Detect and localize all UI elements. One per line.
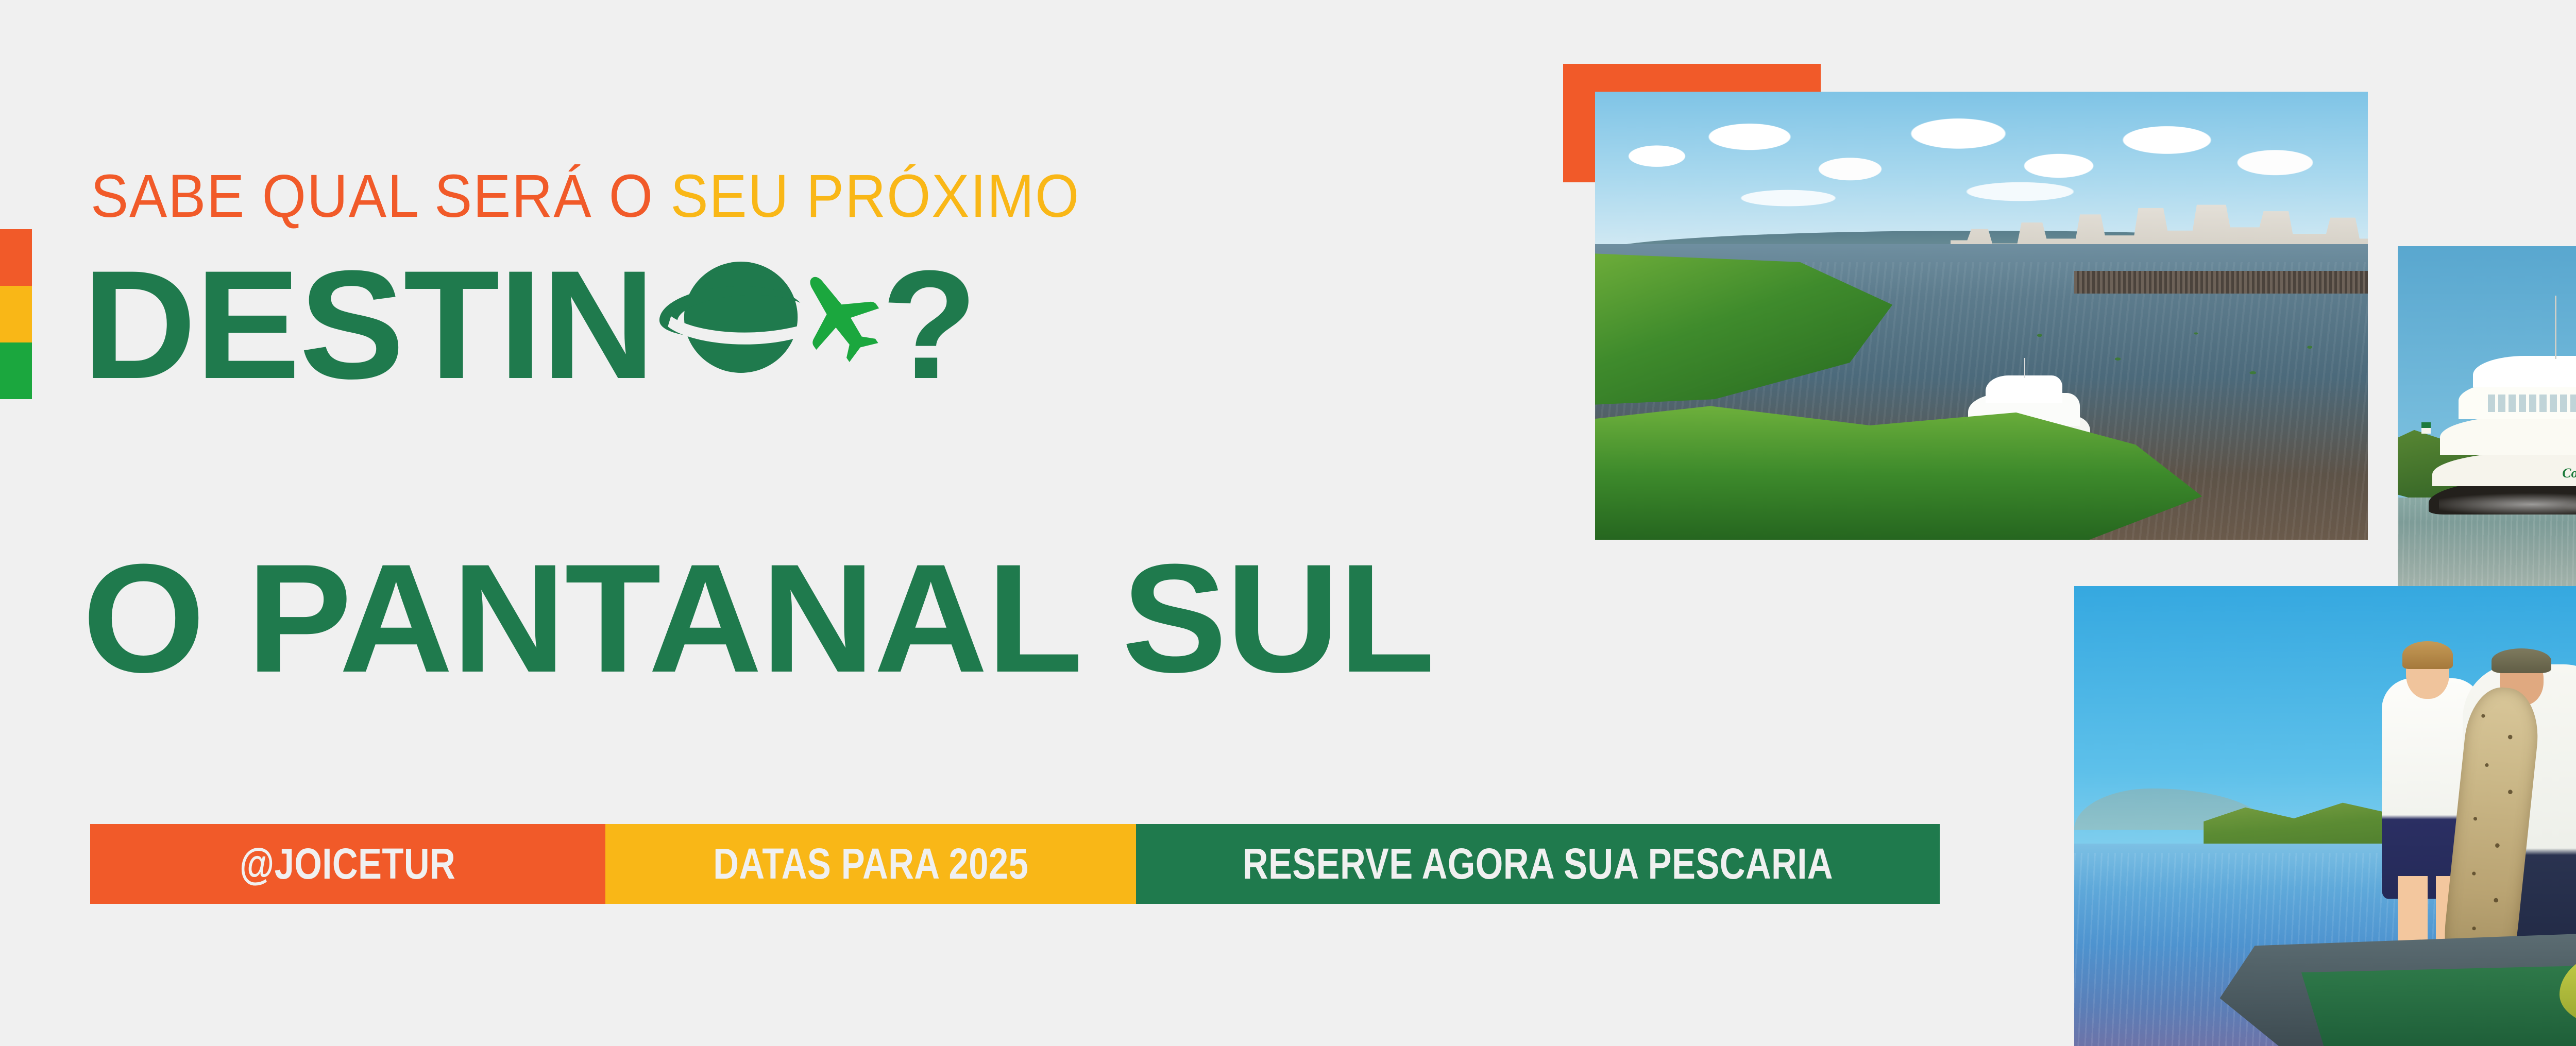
kicker-line: SABE QUAL SERÁ O SEU PRÓXIMO [91, 166, 1080, 227]
vessel-mast [2555, 296, 2556, 359]
stripe-segment-yellow [0, 286, 32, 342]
photo-aerial-river [1595, 92, 2368, 540]
vessel-flag [2421, 422, 2431, 434]
decorative-stripe-left [0, 229, 32, 399]
stripe-segment-green [0, 342, 32, 399]
kicker-orange-text: SABE QUAL SERÁ O [91, 162, 670, 230]
vessel-windows [2488, 395, 2576, 412]
cta-dates[interactable]: DATAS PARA 2025 [605, 824, 1136, 904]
cta-book-button[interactable]: RESERVE AGORA SUA PESCARIA [1136, 824, 1940, 904]
kicker-yellow-text: SEU PRÓXIMO [670, 162, 1080, 230]
stripe-segment-orange [0, 229, 32, 286]
boat-mast [2024, 358, 2025, 378]
vessel-deck-1 [2440, 416, 2576, 455]
cta-dates-label: DATAS PARA 2025 [713, 839, 1028, 889]
vessel-lower-deck [2432, 451, 2576, 487]
photo-fishing: JOICE 24 anos [2074, 586, 2576, 1046]
guide-cap [2492, 648, 2551, 673]
vessel-bridge [2473, 356, 2576, 388]
cta-handle-label: @JOICETUR [240, 839, 455, 889]
cta-bar: @JOICETUR DATAS PARA 2025 RESERVE AGORA … [90, 824, 1940, 904]
cta-instagram-handle[interactable]: @JOICETUR [90, 824, 605, 904]
boy-hair [2402, 641, 2452, 669]
airplane-icon [801, 254, 880, 378]
vessel-name-label: Comodoro [2562, 466, 2576, 481]
globe-orbit-icon [655, 254, 813, 378]
promo-banner: SABE QUAL SERÁ O SEU PRÓXIMO DESTIN ? O … [0, 0, 2576, 1046]
headline-question-mark: ? [882, 247, 977, 402]
vessel: Comodoro [2429, 338, 2576, 515]
photo-comodoro-vessel: Comodoro [2398, 246, 2576, 586]
boat-deck-3 [1986, 375, 2062, 403]
cta-book-label: RESERVE AGORA SUA PESCARIA [1243, 839, 1833, 889]
headline-primary: DESTIN ? [82, 247, 976, 402]
headline-destination: O PANTANAL SUL [82, 541, 1434, 695]
riverfront-pier [2074, 271, 2368, 294]
headline-destino-text: DESTIN [82, 247, 654, 402]
bow-foam [2439, 491, 2576, 518]
boat-interior [2284, 963, 2576, 1046]
